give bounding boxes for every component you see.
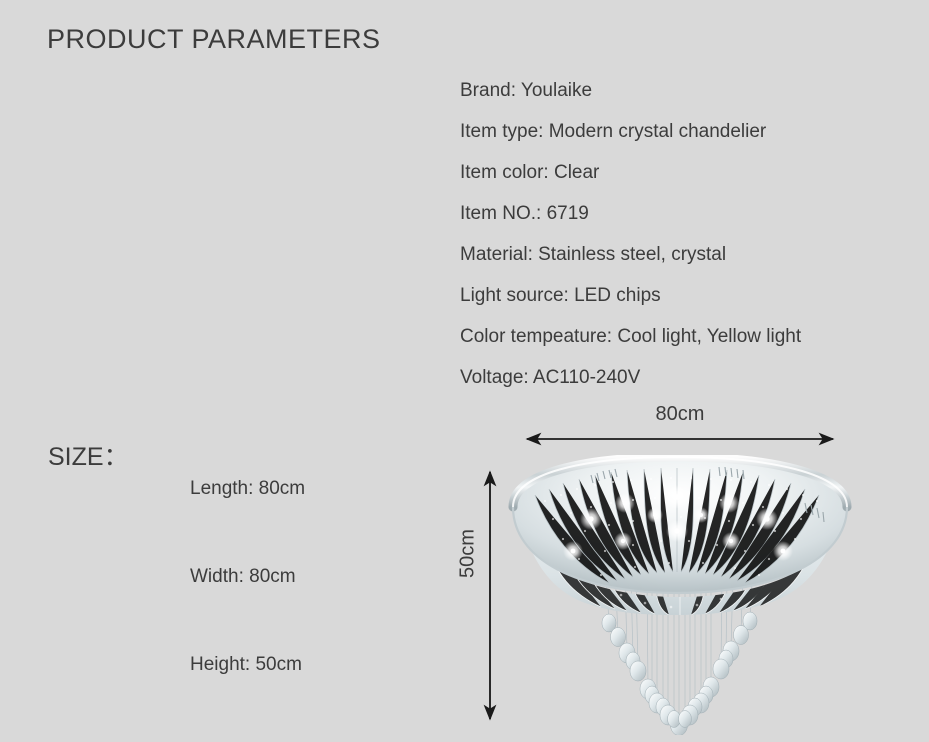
spec-line-color-temperature: Color tempeature: Cool light, Yellow lig…	[460, 316, 900, 357]
page-title: PRODUCT PARAMETERS	[47, 24, 381, 55]
dimension-label-width: 80cm	[640, 403, 720, 426]
spec-line-material: Material: Stainless steel, crystal	[460, 234, 900, 275]
spec-line-item-type: Item type: Modern crystal chandelier	[460, 111, 900, 152]
spec-line-item-color: Item color: Clear	[460, 152, 900, 193]
chandelier-image	[505, 455, 855, 735]
dimension-label-height: 50cm	[457, 524, 480, 584]
spec-line-item-no: Item NO.: 6719	[460, 193, 900, 234]
product-parameters-page: PRODUCT PARAMETERS Brand: Youlaike Item …	[0, 0, 929, 739]
size-item-width: Width: 80cm	[190, 566, 450, 654]
spec-line-voltage: Voltage: AC110-240V	[460, 357, 900, 398]
size-heading: SIZE：	[48, 437, 129, 473]
spec-line-brand: Brand: Youlaike	[460, 70, 900, 111]
crystal-drops	[602, 612, 757, 735]
spec-line-light-source: Light source: LED chips	[460, 275, 900, 316]
size-item-length: Length: 80cm	[190, 478, 450, 566]
size-item-list: Length: 80cm Width: 80cm Height: 50cm	[190, 478, 450, 742]
specification-list: Brand: Youlaike Item type: Modern crysta…	[460, 70, 900, 398]
size-item-height: Height: 50cm	[190, 654, 450, 742]
